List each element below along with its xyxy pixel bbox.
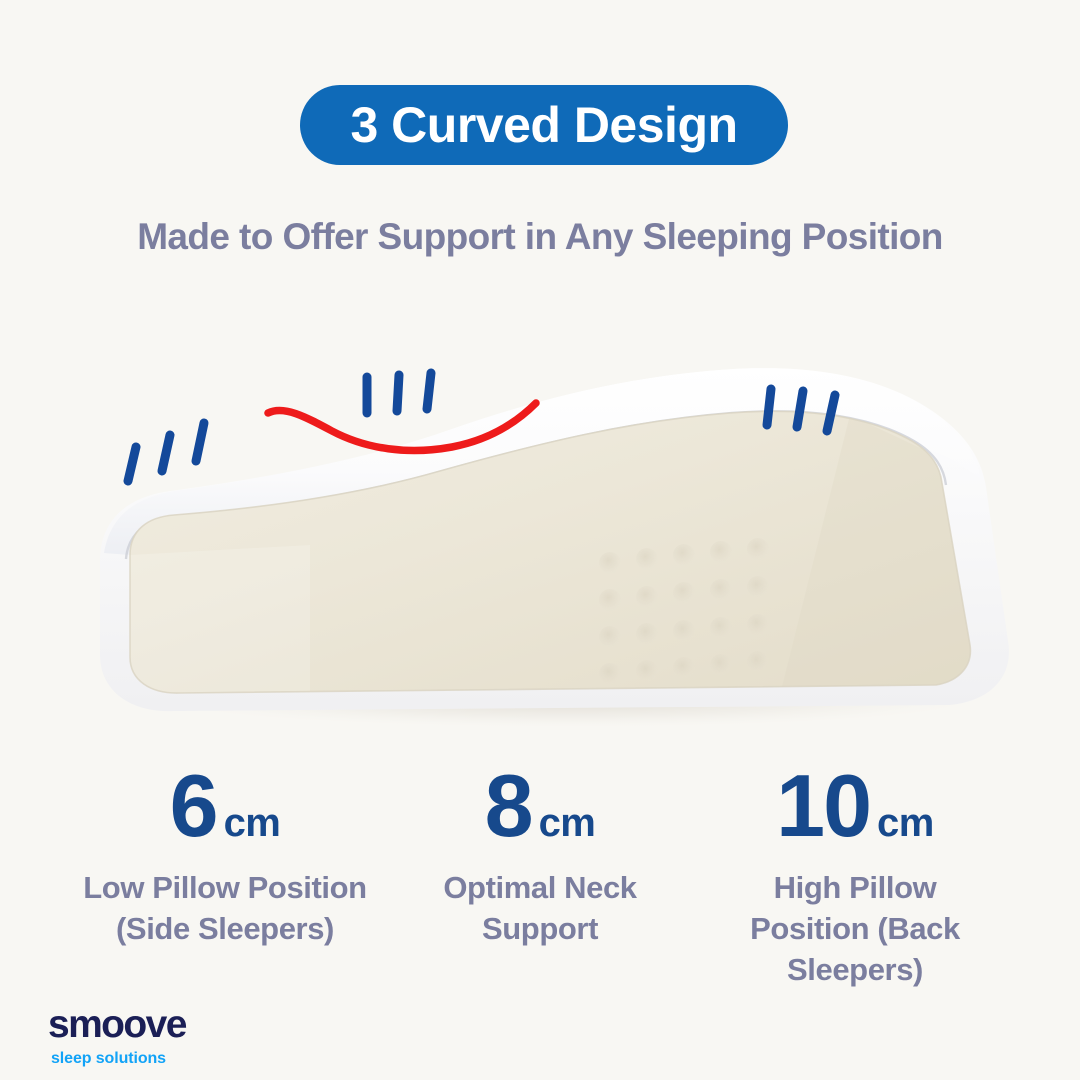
measurement-unit: cm [224,803,281,843]
measurement-unit: cm [877,803,934,843]
measurement-item-optimal: 8 cm Optimal Neck Support [390,762,690,949]
measurement-number: 8 [485,762,532,850]
title-text: 3 Curved Design [350,100,737,150]
measurement-item-low: 6 cm Low Pillow Position (Side Sleepers) [60,762,390,949]
brand-tagline: sleep solutions [51,1051,308,1067]
measurement-caption-line: Support [390,908,690,949]
measurement-caption-line: High Pillow [690,867,1020,908]
measurement-caption: Optimal Neck Support [390,867,690,949]
product-image [70,355,1020,735]
measurement-caption-line: Sleepers) [690,949,1020,990]
measurement-number: 10 [776,762,870,850]
brand-logo: smoove sleep solutions [48,1005,308,1067]
measurement-caption-line: Low Pillow Position [60,867,390,908]
measurement-caption-line: Position (Back [690,908,1020,949]
measurement-caption: High Pillow Position (Back Sleepers) [690,867,1020,991]
infographic-canvas: 3 Curved Design Made to Offer Support in… [0,0,1080,1080]
measurement-value-row: 10 cm [690,762,1020,850]
measurement-caption-line: Optimal Neck [390,867,690,908]
measurement-value-row: 8 cm [390,762,690,850]
measurement-caption: Low Pillow Position (Side Sleepers) [60,867,390,949]
center-tick-marks [367,373,431,413]
subtitle-text: Made to Offer Support in Any Sleeping Po… [0,216,1080,258]
measurement-number: 6 [170,762,217,850]
measurements-row: 6 cm Low Pillow Position (Side Sleepers)… [0,762,1080,991]
brand-name: smoove [48,1005,308,1044]
measurement-item-high: 10 cm High Pillow Position (Back Sleeper… [690,762,1020,991]
measurement-unit: cm [539,803,596,843]
left-tick-marks [128,423,204,481]
measurement-caption-line: (Side Sleepers) [60,908,390,949]
measurement-value-row: 6 cm [60,762,390,850]
title-badge: 3 Curved Design [300,85,788,165]
